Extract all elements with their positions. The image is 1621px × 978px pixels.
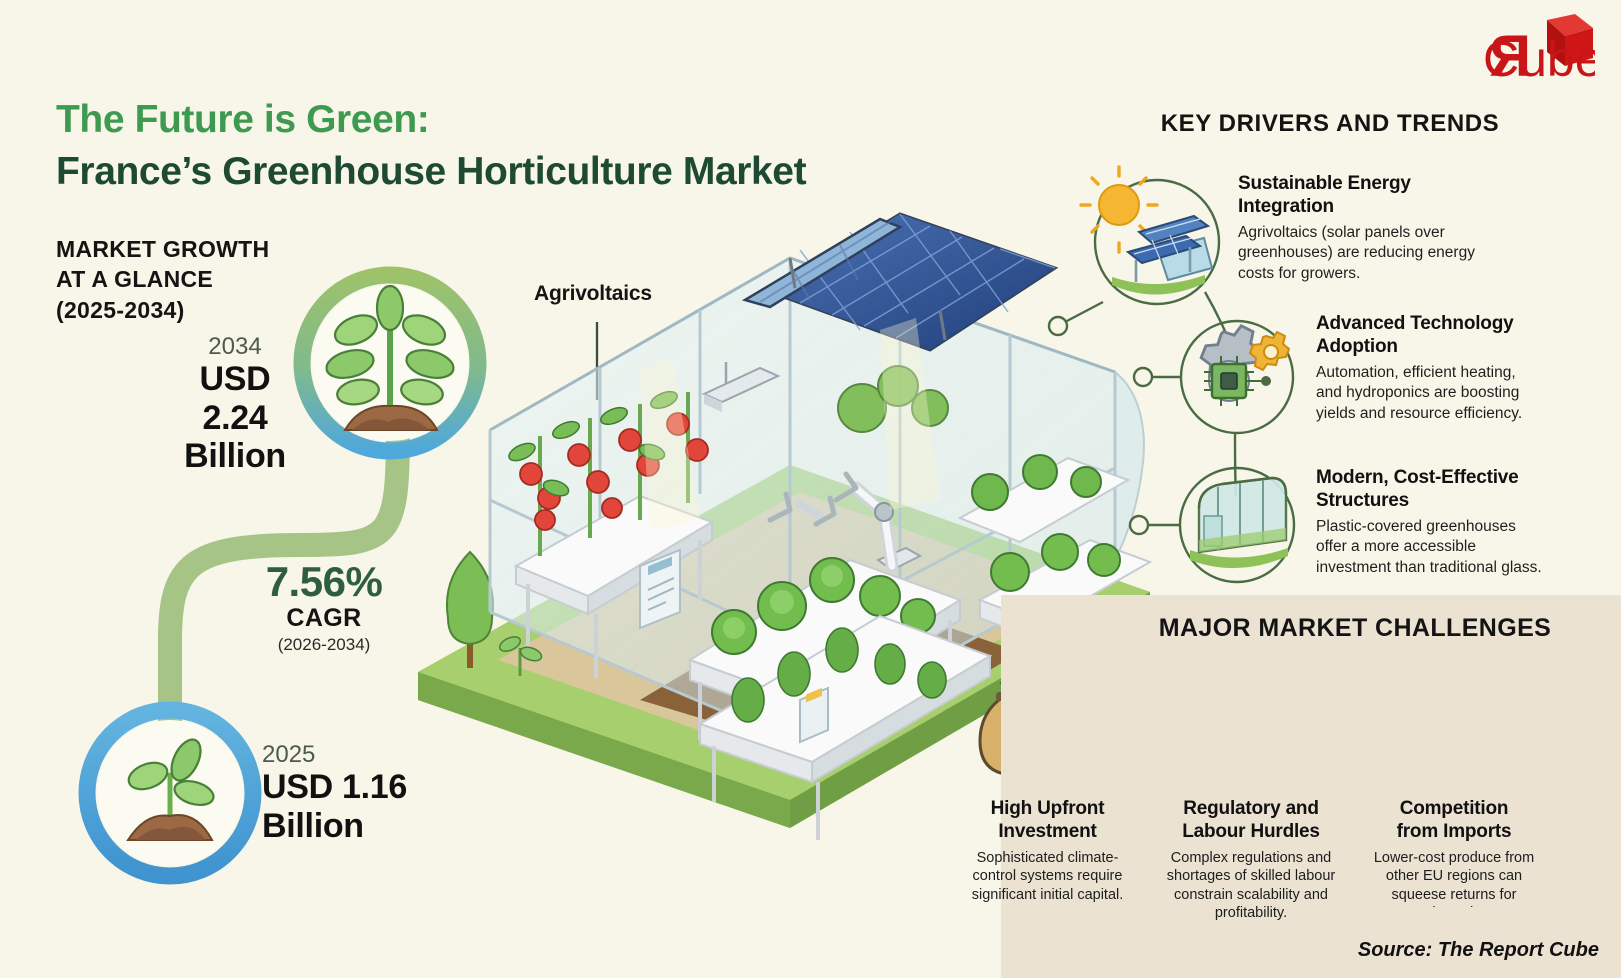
value-2025-line-2: Billion — [262, 807, 462, 845]
value-2034-line-2: 2.24 — [170, 399, 300, 437]
key-driver-body-2: Plastic-covered greenhouses offer a more… — [1316, 517, 1542, 577]
key-driver-title-1: Advanced Technology Adoption — [1316, 312, 1538, 358]
value-circle-2034 — [302, 275, 478, 451]
key-driver-title-1-line2: Adoption — [1316, 336, 1398, 357]
challenge-title-1-line2: Labour Hurdles — [1182, 821, 1320, 842]
key-driver-title-0-line2: Integration — [1238, 196, 1334, 217]
year-label-2034: 2034 — [170, 334, 300, 360]
cagr-percent: 7.56% — [214, 560, 434, 604]
challenge-title-2-line1: Competition — [1400, 798, 1509, 819]
key-drivers-heading: KEY DRIVERS AND TRENDS — [1120, 110, 1540, 138]
tree-icon — [447, 552, 493, 668]
page-title: The Future is Green: France’s Greenhouse… — [56, 96, 806, 195]
cagr-label: CAGR — [214, 604, 434, 633]
control-panel-display — [640, 550, 680, 628]
gear-chip-icon — [1201, 326, 1289, 406]
plant-grown-icon — [324, 286, 457, 430]
key-driver-body-0: Agrivoltaics (solar panels over greenhou… — [1238, 223, 1488, 283]
value-2034-line-3: Billion — [170, 437, 300, 475]
challenge-title-2: Competition from Imports — [1368, 798, 1540, 844]
grow-light-icon — [704, 362, 778, 412]
solar-greenhouse-icon — [1081, 167, 1212, 295]
challenges-heading: MAJOR MARKET CHALLENGES — [1135, 614, 1575, 643]
value-2034-line-1: USD — [170, 360, 300, 398]
value-2025-line-1: USD 1.16 — [262, 768, 462, 806]
challenge-item-0: High Upfront Investment Sophisticated cl… — [960, 798, 1135, 904]
key-driver-title-0-line1: Sustainable Energy — [1238, 173, 1411, 194]
lettuce-bench — [690, 558, 960, 780]
cagr-range: (2026-2034) — [214, 635, 434, 655]
title-line-1: The Future is Green: — [56, 96, 806, 144]
herb-bench — [700, 616, 990, 840]
solar-panel-array-icon — [745, 214, 1055, 350]
challenge-title-0: High Upfront Investment — [960, 798, 1135, 844]
logo-wordmark: Cube — [1483, 31, 1595, 87]
driver-circle-1 — [1181, 321, 1293, 433]
cagr-block: 7.56% CAGR (2026-2034) — [214, 560, 434, 655]
market-value-2025: 2025 USD 1.16 Billion — [262, 742, 462, 845]
challenge-body-0: Sophisticated climate-control systems re… — [960, 849, 1135, 905]
key-driver-body-1: Automation, efficient heating, and hydro… — [1316, 363, 1538, 423]
driver-circle-2 — [1180, 468, 1294, 582]
key-driver-item-0: Sustainable Energy Integration Agrivolta… — [1238, 172, 1488, 284]
value-circle-2025 — [87, 710, 253, 876]
control-box-icon — [800, 688, 828, 742]
market-growth-heading: MARKET GROWTH AT A GLANCE (2025-2034) — [56, 234, 269, 325]
seedling-icon — [125, 735, 216, 840]
brand-logo: R Cube — [1425, 14, 1595, 94]
challenge-body-2: Lower-cost produce from other EU regions… — [1368, 849, 1540, 907]
driver-circle-0 — [1095, 180, 1219, 304]
key-driver-title-1-line1: Advanced Technology — [1316, 313, 1514, 334]
title-line-2: France’s Greenhouse Horticulture Market — [56, 148, 806, 196]
market-growth-heading-line-1: MARKET GROWTH — [56, 234, 269, 264]
agrivoltaics-callout-label: Agrivoltaics — [534, 282, 652, 306]
polytunnel-icon — [1190, 478, 1288, 568]
key-driver-title-2-line2: Structures — [1316, 490, 1409, 511]
key-driver-item-2: Modern, Cost-Effective Structures Plasti… — [1316, 466, 1542, 578]
key-driver-title-2: Modern, Cost-Effective Structures — [1316, 466, 1542, 512]
challenge-title-0-line1: High Upfront — [991, 798, 1105, 819]
market-growth-heading-line-2: AT A GLANCE — [56, 264, 269, 294]
source-credit: Source: The Report Cube — [1358, 939, 1599, 962]
robot-arm-icon — [836, 474, 920, 570]
year-label-2025: 2025 — [262, 742, 462, 768]
small-plant-icon — [497, 634, 543, 676]
brand-logo-svg: R Cube — [1425, 14, 1595, 94]
challenge-item-1: Regulatory and Labour Hurdles Complex re… — [1160, 798, 1342, 923]
tomato-bench — [506, 388, 712, 678]
key-driver-title-0: Sustainable Energy Integration — [1238, 172, 1488, 218]
market-value-2034: 2034 USD 2.24 Billion — [170, 334, 300, 476]
infographic-canvas: R Cube The Future is Green: France’s Gre… — [0, 0, 1621, 978]
key-driver-item-1: Advanced Technology Adoption Automation,… — [1316, 312, 1538, 424]
challenge-title-2-line2: from Imports — [1397, 821, 1512, 842]
challenge-title-1: Regulatory and Labour Hurdles — [1160, 798, 1342, 844]
market-growth-heading-line-3: (2025-2034) — [56, 295, 269, 325]
challenge-item-2: Competition from Imports Lower-cost prod… — [1368, 798, 1540, 907]
challenge-body-1: Complex regulations and shortages of ski… — [1160, 849, 1342, 923]
challenge-title-0-line2: Investment — [998, 821, 1096, 842]
challenge-title-1-line1: Regulatory and — [1183, 798, 1319, 819]
gripper-icon — [770, 494, 834, 524]
key-driver-title-2-line1: Modern, Cost-Effective — [1316, 467, 1519, 488]
